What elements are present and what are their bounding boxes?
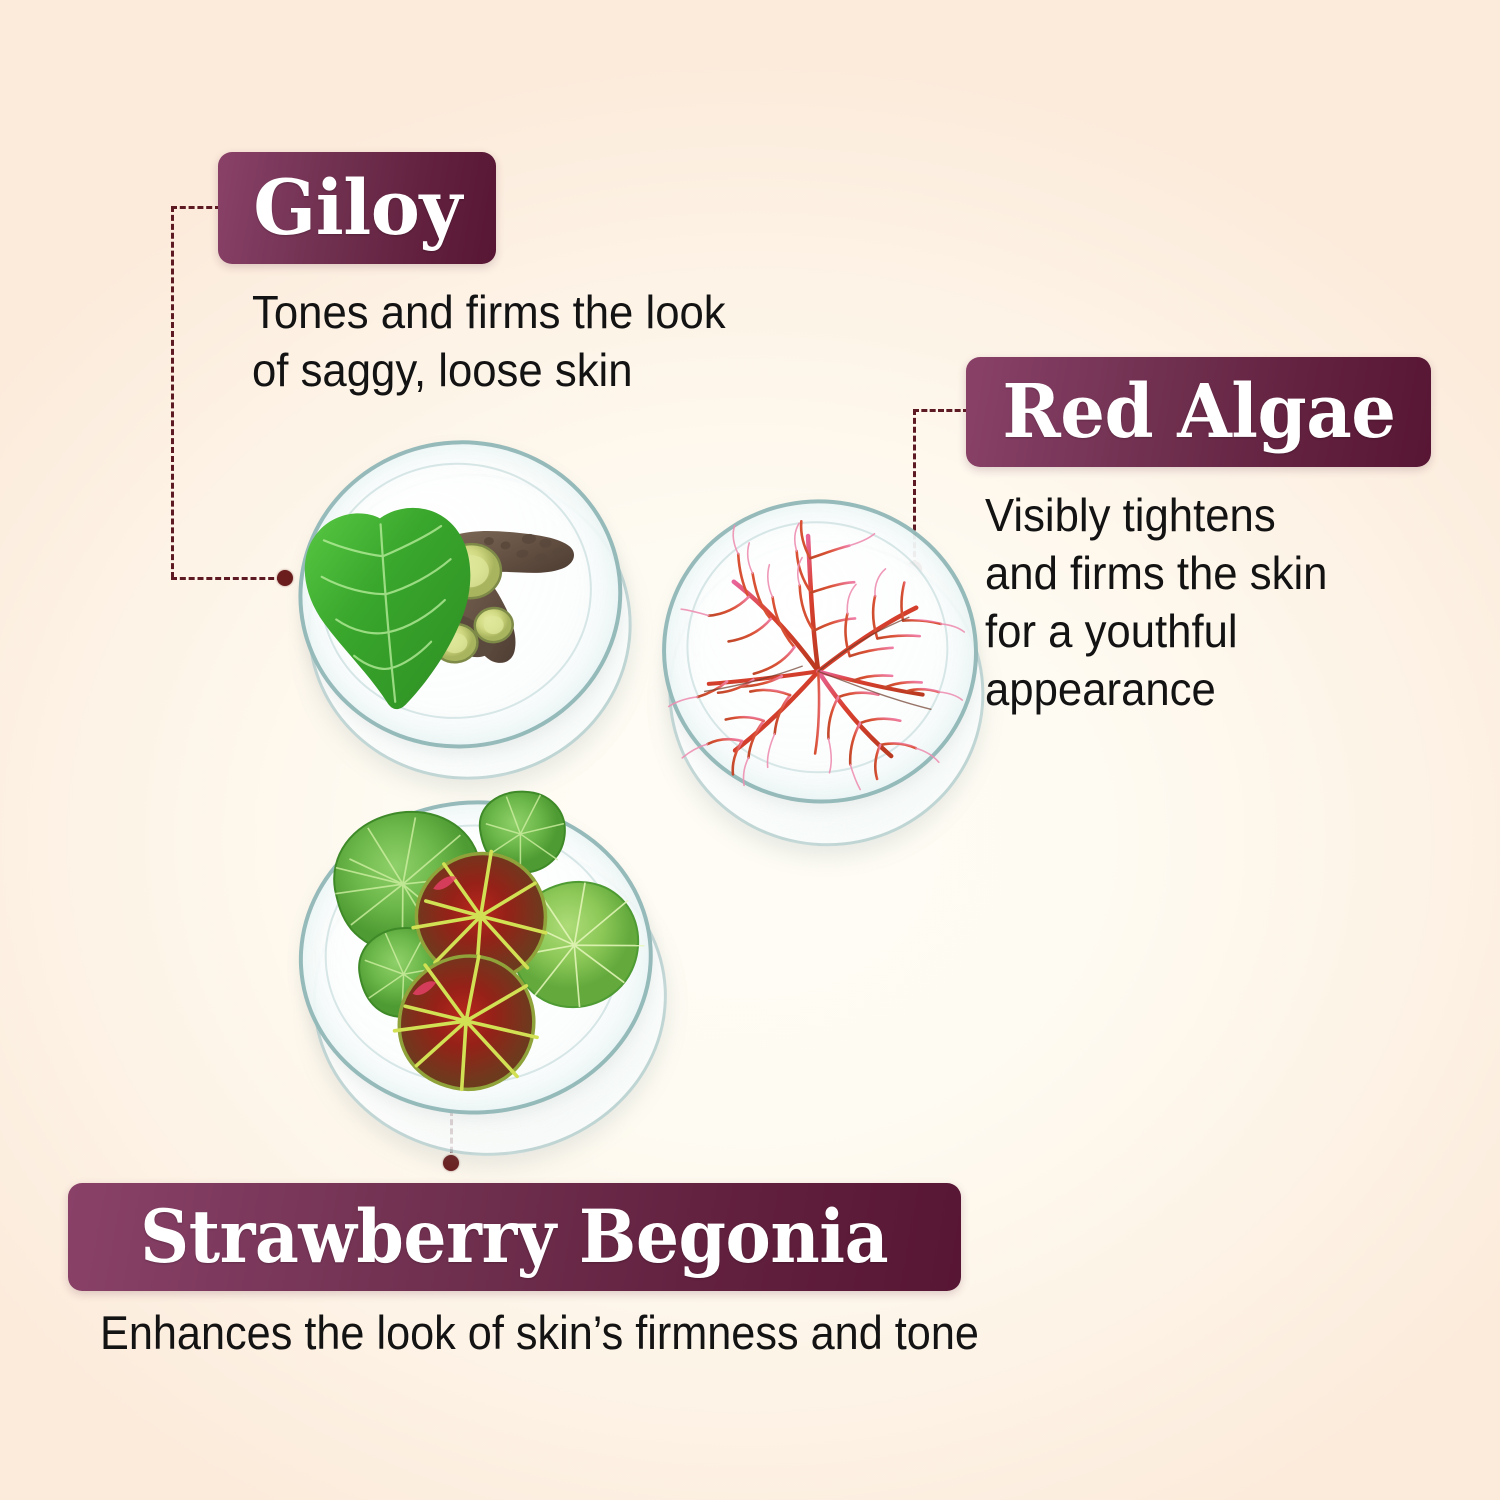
petri-dish-strawberry-begonia xyxy=(291,791,679,1170)
connector-algae-top-segment xyxy=(913,409,969,412)
ingredient-badge-red-algae[interactable]: Red Algae xyxy=(966,357,1431,467)
strawberry-begonia-leaves-graphic xyxy=(278,780,695,1140)
ingredient-badge-strawberry-begonia[interactable]: Strawberry Begonia xyxy=(68,1183,961,1291)
ingredient-description-giloy: Tones and firms the look of saggy, loose… xyxy=(252,284,822,400)
ingredient-name-red-algae: Red Algae xyxy=(1002,375,1395,449)
red-algae-graphic xyxy=(631,467,1008,826)
ingredient-name-strawberry-begonia: Strawberry Begonia xyxy=(141,1201,889,1274)
connector-giloy-top-segment xyxy=(171,206,221,209)
ingredient-name-giloy: Giloy xyxy=(253,170,462,246)
petri-dish-giloy xyxy=(283,424,647,797)
giloy-leaf-graphic xyxy=(281,490,503,730)
ingredient-description-strawberry-begonia: Enhances the look of skin’s firmness and… xyxy=(100,1303,1075,1362)
ingredient-description-red-algae: Visibly tightens and firms the skin for … xyxy=(985,487,1432,719)
connector-giloy-bottom-segment xyxy=(171,577,283,580)
petri-dish-red-algae xyxy=(645,486,1004,863)
ingredient-badge-giloy[interactable]: Giloy xyxy=(218,152,496,264)
infographic-canvas: Giloy Tones and firms the look of saggy,… xyxy=(0,0,1500,1500)
connector-giloy-vertical-segment xyxy=(171,206,174,578)
